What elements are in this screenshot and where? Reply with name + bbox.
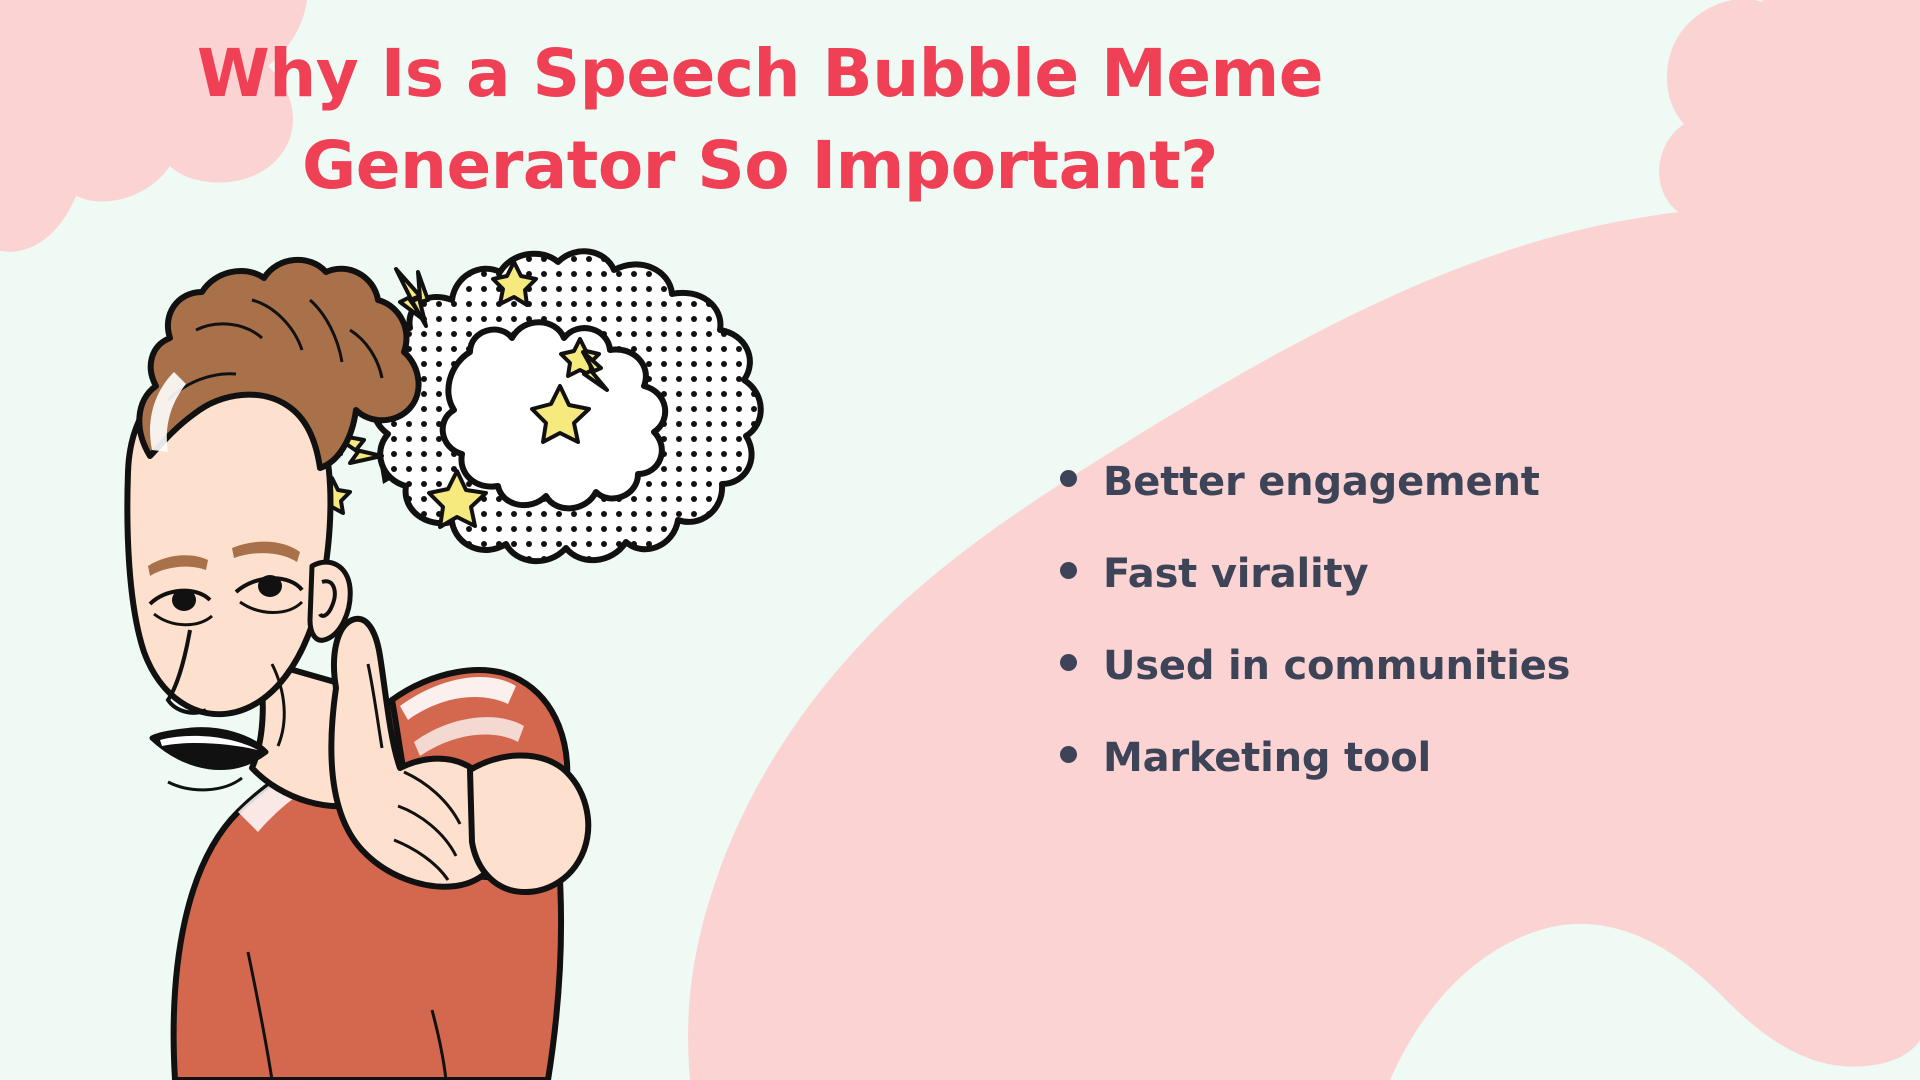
list-item: Better engagement [1060, 462, 1820, 502]
list-item-label: Better engagement [1103, 462, 1540, 502]
list-item-label: Used in communities [1103, 646, 1570, 686]
character-mouth [152, 730, 266, 768]
title-line-2: Generator So Important? [160, 120, 1360, 212]
list-item: Fast virality [1060, 554, 1820, 594]
pupil-left [172, 589, 196, 611]
page-title: Why Is a Speech Bubble Meme Generator So… [160, 28, 1360, 213]
lower-lip-line [168, 778, 242, 790]
bullet-dot-icon [1060, 654, 1077, 671]
title-line-1: Why Is a Speech Bubble Meme [160, 28, 1360, 120]
list-item: Used in communities [1060, 646, 1820, 686]
infographic-canvas: Why Is a Speech Bubble Meme Generator So… [0, 0, 1920, 1080]
bullet-dot-icon [1060, 470, 1077, 487]
benefits-list: Better engagement Fast virality Used in … [1060, 462, 1820, 830]
list-item: Marketing tool [1060, 738, 1820, 778]
character-forearm [470, 755, 588, 892]
bullet-dot-icon [1060, 562, 1077, 579]
bullet-dot-icon [1060, 746, 1077, 763]
list-item-label: Fast virality [1103, 554, 1368, 594]
list-item-label: Marketing tool [1103, 738, 1431, 778]
pupil-right [258, 575, 282, 597]
